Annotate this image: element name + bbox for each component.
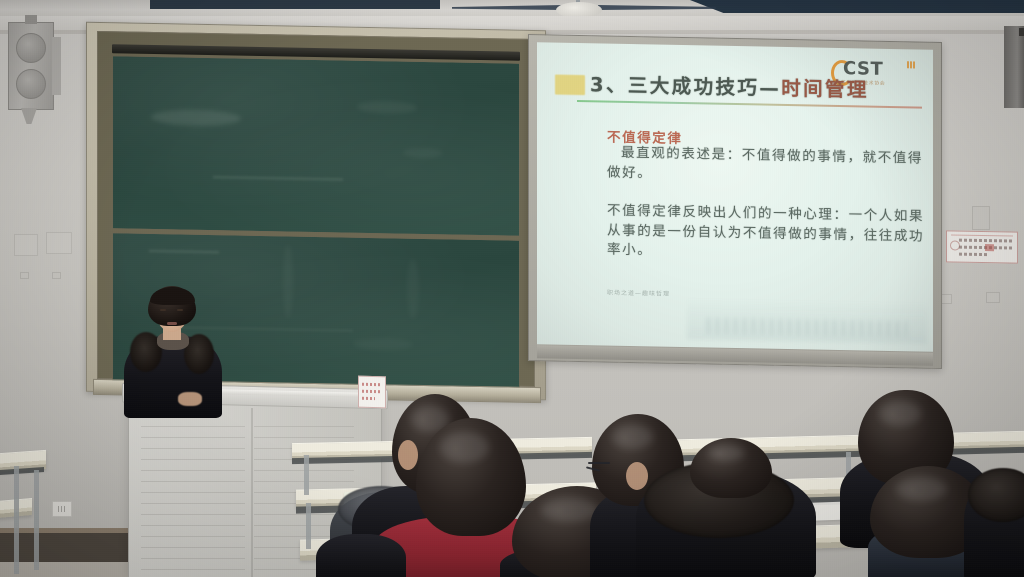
slide-title-highlight: 时间管理 [781,77,869,102]
slide-paragraph-2: 不值得定律反映出人们的一种心理：一个人如果从事的是一份自认为不值得做的事情，往往… [607,202,927,267]
projection-screen-frame: CST 江苏省科学技术协会 3、三大成功技巧—时间管理 不值得定律 最直观的表述… [528,34,942,369]
speaker-driver-icon [16,69,46,99]
ceiling-beam-left [150,0,440,9]
label-text-line [362,390,382,393]
instructor-mouth [167,322,177,325]
notice-stamp-icon [985,244,994,251]
cst-logo-dots-icon [907,61,915,68]
wall-panel [972,206,990,230]
wall-speaker-right [1004,26,1024,108]
projection-screen: CST 江苏省科学技术协会 3、三大成功技巧—时间管理 不值得定律 最直观的表述… [537,42,933,352]
label-text-line [362,397,375,400]
slide-title-number: 3、 [590,73,628,97]
student-jacket [316,534,406,577]
floor [0,562,140,577]
slide-title: 3、三大成功技巧—时间管理 [590,68,869,102]
label-text-line [362,383,382,386]
desk-leg [14,466,19,574]
instructor-hand [178,392,202,406]
chalkboard-panel-upper [112,55,520,236]
wall-screw-plate [52,272,61,279]
podium-vent-slots [141,426,245,571]
podium-equipment-label [358,376,386,409]
wall-outlet [52,501,72,517]
ceiling-beam-right [690,0,1024,13]
instructor-eye [160,309,166,311]
wall-baseboard [0,528,140,564]
slide-watermark-image [687,297,927,344]
eyeglasses-icon [588,462,610,464]
wall-screw-plate [20,272,29,279]
wall-speaker-left [8,22,54,110]
classroom-photo: CST 江苏省科学技术协会 3、三大成功技巧—时间管理 不值得定律 最直观的表述… [0,0,1024,577]
slide-paragraph-1: 最直观的表述是：不值得做的事情，就不值得做好。 [607,144,927,189]
speaker-side-panel [52,37,61,95]
student-face [626,462,648,490]
wall-screw-plate [986,292,1000,303]
slide-title-underline [577,100,922,109]
slide-title-main: 三大成功技巧— [628,74,781,100]
speaker-driver-icon [16,33,46,63]
desk-leg [34,470,39,570]
instructor-eye [177,309,183,311]
wall-junction-box [14,234,38,256]
desk-leg [306,503,311,549]
student-ear [398,440,418,470]
student-hair [690,438,772,498]
desk-leg [304,455,309,495]
podium-panel-seam [251,408,253,577]
notice-text-line [959,253,989,257]
notice-header-rule [951,234,1013,236]
notice-text-line [959,239,1012,243]
slide-bullet-square-icon [555,75,585,96]
slide-footnote: 职场之道—趣味哲理 [607,288,670,298]
speaker-mount-bracket [25,15,37,24]
wall-junction-box [46,232,72,254]
wall-notice-sign [946,230,1018,263]
